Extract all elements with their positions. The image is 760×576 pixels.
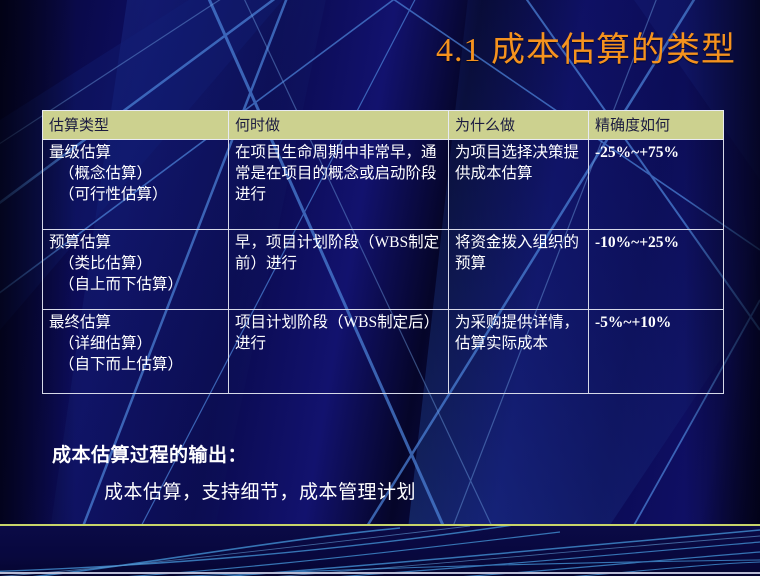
cell-accuracy: -5%~+10% <box>589 310 724 394</box>
cell-accuracy: -25%~+75% <box>589 140 724 230</box>
type-line-alt-1: （类比估算） <box>49 254 222 275</box>
type-line-primary: 量级估算 <box>49 143 222 164</box>
cell-when: 早，项目计划阶段（WBS制定前）进行 <box>229 230 449 310</box>
cell-estimate-type: 预算估算 （类比估算） （自上而下估算） <box>43 230 229 310</box>
cell-why: 为项目选择决策提供成本估算 <box>449 140 589 230</box>
table-row: 量级估算 （概念估算） （可行性估算） 在项目生命周期中非常早，通常是在项目的概… <box>43 140 724 230</box>
table-header-row: 估算类型 何时做 为什么做 精确度如何 <box>43 111 724 140</box>
estimate-types-table-wrapper: 估算类型 何时做 为什么做 精确度如何 量级估算 （概念估算） （可行性估算） <box>42 110 723 394</box>
cell-why: 为采购提供详情，估算实际成本 <box>449 310 589 394</box>
cell-estimate-type: 量级估算 （概念估算） （可行性估算） <box>43 140 229 230</box>
notes-heading: 成本估算过程的输出： <box>52 440 416 467</box>
type-line-alt-2: （可行性估算） <box>49 185 222 206</box>
notes-body: 成本估算，支持细节，成本管理计划 <box>104 477 416 504</box>
type-line-alt-1: （详细估算） <box>49 334 222 355</box>
table-row: 最终估算 （详细估算） （自下而上估算） 项目计划阶段（WBS制定后）进行 为采… <box>43 310 724 394</box>
cell-accuracy: -10%~+25% <box>589 230 724 310</box>
footer-band <box>0 524 760 576</box>
cell-when: 在项目生命周期中非常早，通常是在项目的概念或启动阶段进行 <box>229 140 449 230</box>
column-header-accuracy: 精确度如何 <box>589 111 724 140</box>
cell-when: 项目计划阶段（WBS制定后）进行 <box>229 310 449 394</box>
notes-block: 成本估算过程的输出： 成本估算，支持细节，成本管理计划 <box>52 440 416 504</box>
type-line-alt-2: （自上而下估算） <box>49 275 222 296</box>
type-line-primary: 最终估算 <box>49 313 222 334</box>
column-header-type: 估算类型 <box>43 111 229 140</box>
column-header-when: 何时做 <box>229 111 449 140</box>
column-header-why: 为什么做 <box>449 111 589 140</box>
slide-canvas: 4.1 成本估算的类型 估算类型 何时做 为什么做 精确度如何 量级估算 <box>0 0 760 576</box>
cell-estimate-type: 最终估算 （详细估算） （自下而上估算） <box>43 310 229 394</box>
type-line-primary: 预算估算 <box>49 233 222 254</box>
cell-why: 将资金拨入组织的预算 <box>449 230 589 310</box>
table-row: 预算估算 （类比估算） （自上而下估算） 早，项目计划阶段（WBS制定前）进行 … <box>43 230 724 310</box>
type-line-alt-2: （自下而上估算） <box>49 355 222 376</box>
footer-bottom-rule <box>0 572 760 574</box>
page-title: 4.1 成本估算的类型 <box>436 22 736 71</box>
type-line-alt-1: （概念估算） <box>49 164 222 185</box>
estimate-types-table: 估算类型 何时做 为什么做 精确度如何 量级估算 （概念估算） （可行性估算） <box>42 110 724 394</box>
